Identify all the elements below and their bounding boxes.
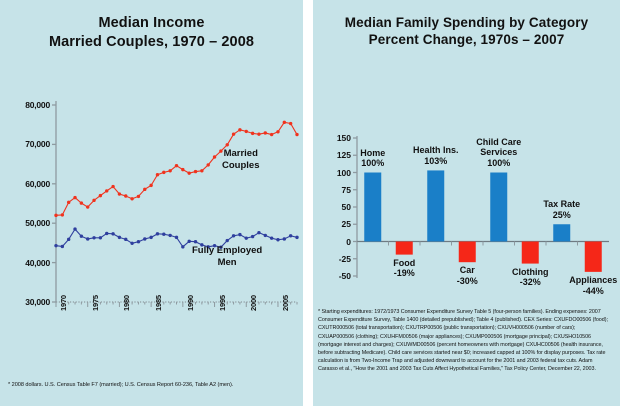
- bar-label-line: 25%: [553, 210, 571, 220]
- y-axis-tick-label: 50,000: [4, 218, 50, 228]
- right-chart-panel: Median Family Spending by Category Perce…: [313, 0, 620, 406]
- fully-employed-men-series-label: Fully Employed Men: [192, 245, 262, 268]
- men-label-line-1: Fully Employed: [192, 245, 262, 256]
- x-axis-tick-label: 1970: [59, 295, 68, 311]
- x-axis-tick-label: 2005: [281, 295, 290, 311]
- bar-y-axis-tick-label: 0: [325, 237, 351, 247]
- x-axis-tick-label: 1985: [154, 295, 163, 311]
- bar-category-label: Tax Rate25%: [507, 199, 617, 221]
- bar-label-line: Child Care: [476, 137, 521, 147]
- bar-category-label: Appliances-44%: [538, 275, 620, 297]
- x-axis-tick-label: 2000: [249, 295, 258, 311]
- bar-y-axis-tick-label: 50: [325, 202, 351, 212]
- bar-y-axis-tick-label: -25: [325, 254, 351, 264]
- y-axis-tick-label: 40,000: [4, 258, 50, 268]
- median-income-line-chart: [0, 0, 303, 406]
- bar-label-line: Tax Rate: [543, 199, 580, 209]
- bar-category-label: Child CareServices100%: [444, 137, 554, 169]
- y-axis-tick-label: 80,000: [4, 100, 50, 110]
- bar-y-axis-tick-label: -50: [325, 271, 351, 281]
- x-axis-tick-label: 1990: [186, 295, 195, 311]
- men-label-line-2: Men: [218, 257, 237, 268]
- y-axis-tick-label: 70,000: [4, 139, 50, 149]
- x-axis-tick-label: 1975: [91, 295, 100, 311]
- bar-y-axis-tick-label: 150: [325, 133, 351, 143]
- married-couples-series-label: Married Couples: [222, 148, 259, 171]
- left-footnote: * 2008 dollars. U.S. Census Table F7 (ma…: [8, 381, 300, 390]
- bar-label-line: Car: [460, 265, 475, 275]
- bar-label-line: -44%: [583, 286, 604, 296]
- x-axis-tick-label: 1980: [122, 295, 131, 311]
- bar-label-line: 100%: [487, 158, 510, 168]
- x-axis-tick-label: 1995: [218, 295, 227, 311]
- right-footnote: * Starting expenditures: 1972/1973 Consu…: [318, 308, 610, 374]
- bar-y-axis-tick-label: 25: [325, 219, 351, 229]
- bar-label-line: Appliances: [569, 275, 617, 285]
- y-axis-tick-label: 60,000: [4, 179, 50, 189]
- married-label-line-2: Couples: [222, 160, 259, 171]
- married-label-line-1: Married: [224, 148, 258, 159]
- bar-label-line: Services: [480, 147, 517, 157]
- bar-y-axis-tick-label: 75: [325, 185, 351, 195]
- left-chart-panel: Median Income Married Couples, 1970 – 20…: [0, 0, 303, 406]
- infographic-root: Median Income Married Couples, 1970 – 20…: [0, 0, 620, 406]
- y-axis-tick-label: 30,000: [4, 297, 50, 307]
